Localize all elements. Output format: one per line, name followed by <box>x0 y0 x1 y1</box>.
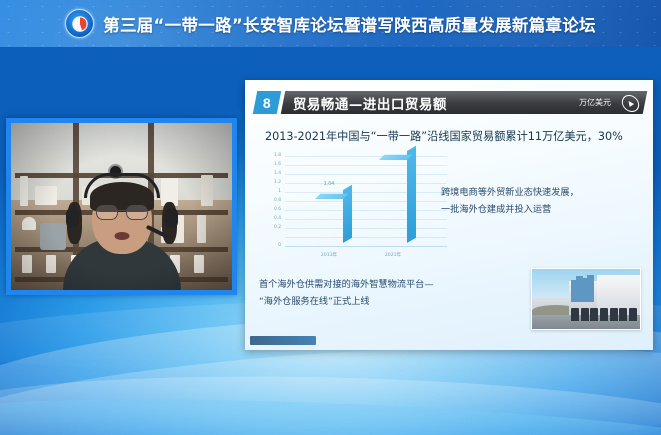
loading-dock-truck <box>581 308 589 321</box>
warehouse-photo <box>531 268 641 330</box>
bar-chart: 1.8 1.6 1.4 1.2 1 0.8 0.6 0.4 0.2 0 1.04… <box>259 152 449 262</box>
background-wave <box>0 387 661 435</box>
slide-number: 8 <box>263 95 271 111</box>
event-banner: 第三届“一带一路”长安智库论坛暨谱写陕西高质量发展新篇章论坛 <box>0 0 661 47</box>
y-axis-tick: 1.6 <box>259 162 281 167</box>
annotation-right: 跨境电商等外贸新业态快速发展， 一批海外仓建成并投入运营 <box>441 184 579 218</box>
x-axis-tick: 2013年 <box>307 252 351 258</box>
loading-dock-truck <box>619 308 627 321</box>
conference-emblem-icon <box>65 9 94 38</box>
annotation-line: 一批海外仓建成并投入运营 <box>441 201 579 218</box>
video-frame <box>11 123 232 290</box>
loading-dock-truck <box>610 308 618 321</box>
y-axis-tick: 0.2 <box>259 225 281 230</box>
slide-lead-text: 2013-2021年中国与“一带一路”沿线国家贸易额累计11万亿美元，30% <box>265 128 639 144</box>
loading-dock-truck <box>590 308 598 321</box>
annotation-bottom: 首个海外仓供需对接的海外智慧物流平台— “海外仓服务在线”正式上线 <box>259 276 434 310</box>
loading-dock-truck <box>629 308 637 321</box>
y-axis-tick: 0 <box>259 243 281 248</box>
bar-2021 <box>379 156 407 248</box>
annotation-line: 首个海外仓供需对接的海外智慧物流平台— <box>259 276 434 293</box>
background-wave <box>0 366 661 435</box>
broadcast-screen: 第三届“一带一路”长安智库论坛暨谱写陕西高质量发展新篇章论坛 <box>0 0 661 435</box>
warehouse-tower <box>587 275 594 302</box>
annotation-line: 跨境电商等外贸新业态快速发展， <box>441 184 579 201</box>
x-axis-tick: 2021年 <box>371 252 415 258</box>
presentation-slide[interactable]: 8 贸易畅通—进出口贸易额 万亿美元 2013-2021年中国与“一带一路”沿线… <box>245 80 653 350</box>
slide-number-badge: 8 <box>253 91 281 114</box>
speaker-video-panel[interactable] <box>6 118 237 295</box>
loading-dock-truck <box>571 308 579 321</box>
video-vignette <box>11 123 232 290</box>
annotation-line: “海外仓服务在线”正式上线 <box>259 293 434 310</box>
y-axis-tick: 1.4 <box>259 171 281 176</box>
y-axis-tick: 0.4 <box>259 216 281 221</box>
banner-title: 第三届“一带一路”长安智库论坛暨谱写陕西高质量发展新篇章论坛 <box>103 12 596 36</box>
bar-2013: 1.04 <box>315 195 343 248</box>
loading-dock-truck <box>600 308 608 321</box>
y-axis-tick: 1.8 <box>259 153 281 158</box>
slide-title-bar: 8 贸易畅通—进出口贸易额 万亿美元 <box>245 91 653 115</box>
y-axis-tick: 1.2 <box>259 180 281 185</box>
bar-value-label: 1.04 <box>309 182 349 187</box>
y-axis-tick: 0.6 <box>259 207 281 212</box>
slide-watermark <box>250 336 316 345</box>
y-axis-tick: 1 <box>259 189 281 194</box>
y-axis-tick: 0.8 <box>259 198 281 203</box>
slide-title: 贸易畅通—进出口贸易额 <box>293 93 447 113</box>
